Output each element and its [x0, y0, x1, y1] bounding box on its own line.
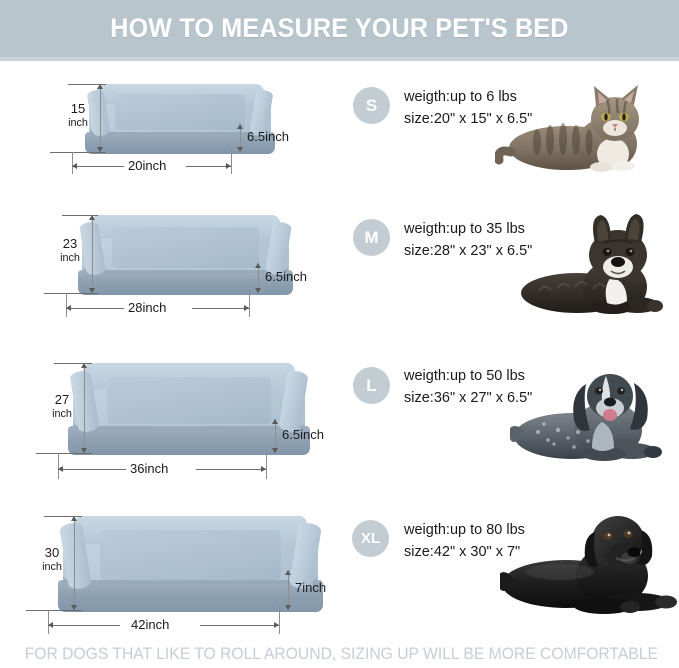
size-row-xl: 30 inch 7inch 42inch XL weig: [0, 498, 679, 630]
dimension-height-m: 6.5inch: [265, 270, 307, 284]
spec-text-m: weigth:up to 35 lbs size:28" x 23" x 6.5…: [404, 218, 532, 262]
dimension-width-m: 28inch: [128, 301, 166, 315]
chart-header: HOW TO MEASURE YOUR PET'S BED: [0, 0, 679, 57]
bed-illustration: [58, 514, 323, 612]
size-line-m: size:28" x 23" x 6.5": [404, 240, 532, 262]
pet-photo-french-bulldog: [515, 205, 679, 325]
bed-illustration: [78, 213, 293, 295]
dimension-depth-l: 27 inch: [42, 393, 82, 421]
bed-diagram-s: 15 inch 6.5inch 20inch: [0, 62, 335, 195]
footer-note: FOR DOGS THAT LIKE TO ROLL AROUND, SIZIN…: [0, 645, 658, 664]
bed-illustration: [68, 361, 310, 455]
weight-line-m: weigth:up to 35 lbs: [404, 218, 532, 240]
dimension-width-s: 20inch: [128, 159, 166, 173]
dimension-width-l: 36inch: [130, 462, 168, 476]
pet-photo-black-labrador: [500, 496, 679, 626]
pet-bed-size-chart: HOW TO MEASURE YOUR PET'S BED 15: [0, 0, 679, 668]
bed-diagram-l: 27 inch 6.5inch 36inch: [0, 343, 335, 498]
page-title: HOW TO MEASURE YOUR PET'S BED: [110, 13, 568, 44]
dimension-depth-m: 23 inch: [50, 237, 90, 265]
size-badge-xl: XL: [352, 520, 389, 557]
dimension-width-xl: 42inch: [131, 618, 169, 632]
dimension-height-s: 6.5inch: [247, 130, 289, 144]
size-badge-s: S: [353, 87, 390, 124]
footer-bar: FOR DOGS THAT LIKE TO ROLL AROUND, SIZIN…: [0, 640, 679, 668]
pet-photo-tabby-cat: [495, 72, 675, 180]
size-badge-m: M: [353, 219, 390, 256]
dimension-depth-xl: 30 inch: [32, 546, 72, 574]
bed-diagram-m: 23 inch 6.5inch 28inch: [0, 195, 335, 343]
dimension-height-l: 6.5inch: [282, 428, 324, 442]
spec-m: M weigth:up to 35 lbs size:28" x 23" x 6…: [340, 195, 679, 343]
spec-s: S weigth:up to 6 lbs size:20" x 15" x 6.…: [340, 62, 679, 195]
spec-xl: XL weigth:up to 80 lbs size:42" x 30" x …: [340, 498, 679, 630]
spec-l: L weigth:up to 50 lbs size:36" x 27" x 6…: [340, 343, 679, 498]
header-underline: [0, 57, 679, 61]
size-badge-l: L: [353, 367, 390, 404]
size-row-l: 27 inch 6.5inch 36inch L wei: [0, 343, 679, 498]
pet-photo-cocker-spaniel: [510, 348, 679, 473]
dimension-depth-s: 15 inch: [58, 102, 98, 130]
size-row-m: 23 inch 6.5inch 28inch M wei: [0, 195, 679, 343]
dimension-height-xl: 7inch: [295, 581, 326, 595]
size-row-s: 15 inch 6.5inch 20inch S: [0, 62, 679, 195]
bed-diagram-xl: 30 inch 7inch 42inch: [0, 498, 335, 630]
